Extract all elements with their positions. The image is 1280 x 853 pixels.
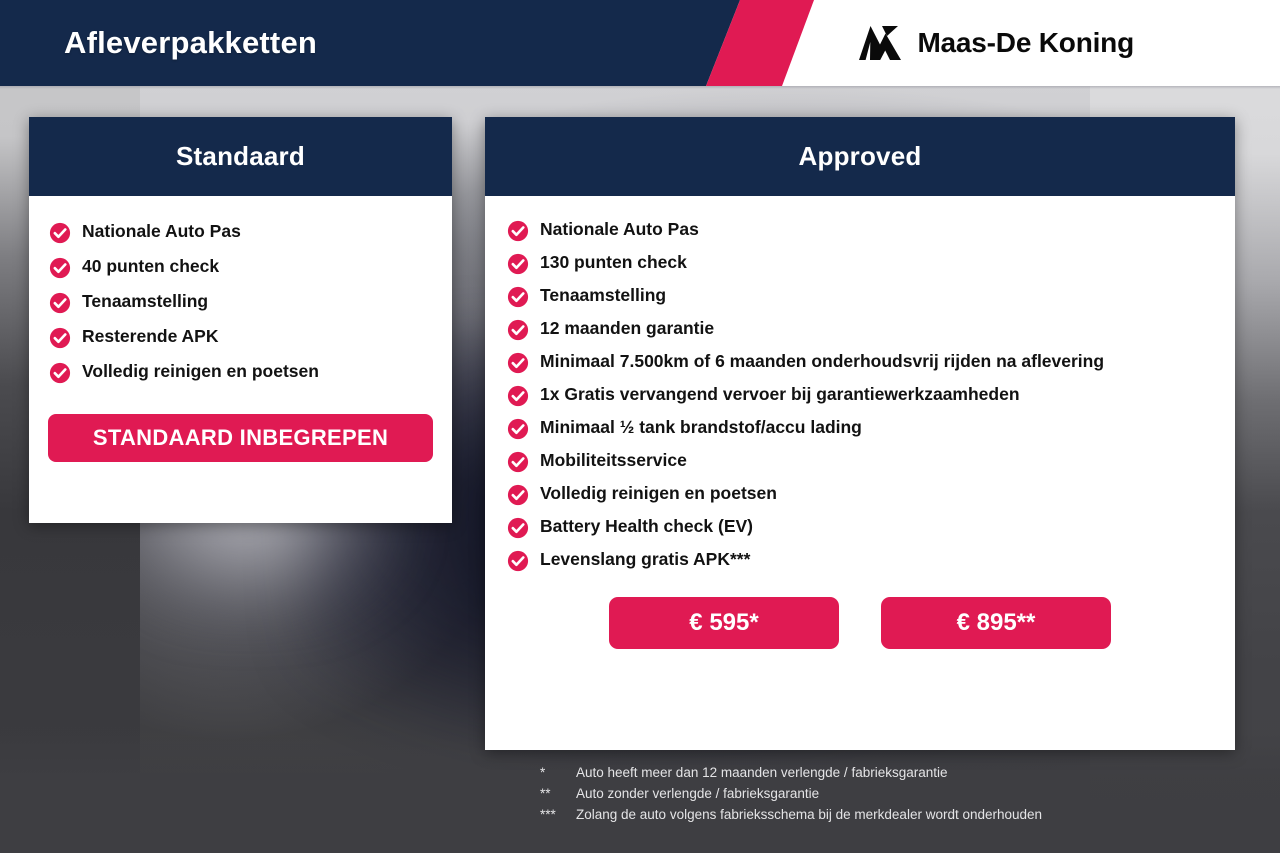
feature-item: 40 punten check <box>49 255 432 279</box>
feature-label: Mobiliteitsservice <box>540 449 687 473</box>
header-underline <box>0 86 1280 89</box>
feature-label: Nationale Auto Pas <box>82 220 241 244</box>
footnote-row: *Auto heeft meer dan 12 maanden verlengd… <box>540 763 1240 784</box>
feature-item: 12 maanden garantie <box>507 317 1213 341</box>
check-circle-icon <box>49 292 71 314</box>
brand-lockup: Maas-De Koning <box>857 0 1134 86</box>
feature-item: Volledig reinigen en poetsen <box>507 482 1213 506</box>
feature-list-approved: Nationale Auto Pas130 punten checkTenaam… <box>507 218 1213 572</box>
feature-item: 1x Gratis vervangend vervoer bij garanti… <box>507 383 1213 407</box>
card-body-standaard: Nationale Auto Pas40 punten checkTenaams… <box>29 196 452 384</box>
feature-label: Volledig reinigen en poetsen <box>82 360 319 384</box>
check-circle-icon <box>49 327 71 349</box>
check-circle-icon <box>507 385 529 407</box>
standaard-button-wrap: STANDAARD INBEGREPEN <box>29 395 452 462</box>
feature-item: Volledig reinigen en poetsen <box>49 360 432 384</box>
check-circle-icon <box>507 286 529 308</box>
maas-de-koning-m-logo-icon <box>857 24 903 62</box>
feature-list-standaard: Nationale Auto Pas40 punten checkTenaams… <box>49 220 432 384</box>
feature-label: Battery Health check (EV) <box>540 515 753 539</box>
check-circle-icon <box>507 517 529 539</box>
feature-label: Tenaamstelling <box>82 290 208 314</box>
feature-label: Tenaamstelling <box>540 284 666 308</box>
feature-label: Levenslang gratis APK*** <box>540 548 750 572</box>
feature-item: Battery Health check (EV) <box>507 515 1213 539</box>
feature-item: Tenaamstelling <box>507 284 1213 308</box>
check-circle-icon <box>507 253 529 275</box>
footnote-marker: * <box>540 763 576 784</box>
card-title-standaard: Standaard <box>29 117 452 196</box>
footnote-text: Auto zonder verlengde / fabrieksgarantie <box>576 784 1240 805</box>
standaard-included-button[interactable]: STANDAARD INBEGREPEN <box>48 414 433 462</box>
footnote-marker: ** <box>540 784 576 805</box>
poster-canvas: Afleverpakketten Maas-De Koning Standaar… <box>0 0 1280 853</box>
check-circle-icon <box>507 484 529 506</box>
footnote-marker: *** <box>540 805 576 826</box>
footnote-text: Zolang de auto volgens fabrieksschema bi… <box>576 805 1240 826</box>
feature-item: Minimaal ½ tank brandstof/accu lading <box>507 416 1213 440</box>
feature-item: Tenaamstelling <box>49 290 432 314</box>
feature-item: Nationale Auto Pas <box>49 220 432 244</box>
price-button-1[interactable]: € 595* <box>609 597 839 649</box>
footnote-text: Auto heeft meer dan 12 maanden verlengde… <box>576 763 1240 784</box>
check-circle-icon <box>507 352 529 374</box>
feature-label: 12 maanden garantie <box>540 317 714 341</box>
feature-label: Nationale Auto Pas <box>540 218 699 242</box>
check-circle-icon <box>507 451 529 473</box>
page-title: Afleverpakketten <box>64 0 317 86</box>
footnote-row: **Auto zonder verlengde / fabrieksgarant… <box>540 784 1240 805</box>
price-button-2[interactable]: € 895** <box>881 597 1111 649</box>
check-circle-icon <box>49 222 71 244</box>
page-header: Afleverpakketten Maas-De Koning <box>0 0 1280 86</box>
feature-label: Minimaal ½ tank brandstof/accu lading <box>540 416 862 440</box>
footnote-row: ***Zolang de auto volgens fabrieksschema… <box>540 805 1240 826</box>
check-circle-icon <box>507 220 529 242</box>
footnotes-block: *Auto heeft meer dan 12 maanden verlengd… <box>540 763 1240 826</box>
check-circle-icon <box>507 550 529 572</box>
feature-label: 130 punten check <box>540 251 687 275</box>
feature-item: Resterende APK <box>49 325 432 349</box>
check-circle-icon <box>507 319 529 341</box>
check-circle-icon <box>49 362 71 384</box>
feature-label: Resterende APK <box>82 325 218 349</box>
card-title-approved: Approved <box>485 117 1235 196</box>
card-body-approved: Nationale Auto Pas130 punten checkTenaam… <box>485 196 1235 649</box>
brand-name: Maas-De Koning <box>917 27 1134 59</box>
feature-label: Minimaal 7.500km of 6 maanden onderhouds… <box>540 350 1104 374</box>
check-circle-icon <box>49 257 71 279</box>
check-circle-icon <box>507 418 529 440</box>
feature-label: 1x Gratis vervangend vervoer bij garanti… <box>540 383 1020 407</box>
price-button-row: € 595*€ 895** <box>507 581 1213 649</box>
feature-item: 130 punten check <box>507 251 1213 275</box>
feature-label: Volledig reinigen en poetsen <box>540 482 777 506</box>
feature-item: Nationale Auto Pas <box>507 218 1213 242</box>
feature-item: Minimaal 7.500km of 6 maanden onderhouds… <box>507 350 1213 374</box>
feature-item: Levenslang gratis APK*** <box>507 548 1213 572</box>
package-card-standaard: Standaard Nationale Auto Pas40 punten ch… <box>29 117 452 523</box>
feature-item: Mobiliteitsservice <box>507 449 1213 473</box>
feature-label: 40 punten check <box>82 255 219 279</box>
package-card-approved: Approved Nationale Auto Pas130 punten ch… <box>485 117 1235 750</box>
